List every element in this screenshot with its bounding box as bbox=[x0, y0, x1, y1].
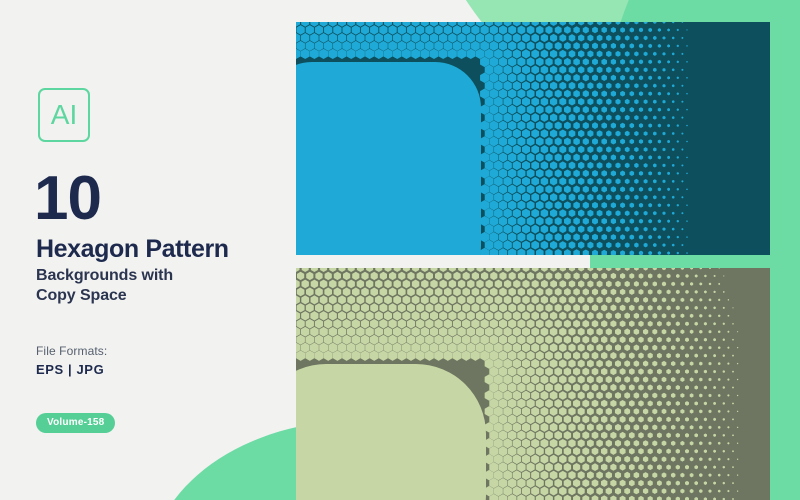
info-panel: AI 10 Hexagon Pattern Backgrounds with C… bbox=[0, 0, 296, 500]
hexagon-pattern-preview-olive bbox=[296, 268, 770, 500]
preview-canvas: AI 10 Hexagon Pattern Backgrounds with C… bbox=[0, 0, 800, 500]
adobe-illustrator-badge-icon: AI bbox=[38, 88, 90, 142]
hexagon-halftone-olive bbox=[296, 268, 770, 500]
file-formats-value: EPS | JPG bbox=[36, 362, 104, 377]
hexagon-halftone-teal bbox=[296, 22, 770, 255]
page-subtitle-line-1: Backgrounds with bbox=[36, 266, 173, 286]
panel-gap bbox=[296, 255, 382, 268]
file-formats-label: File Formats: bbox=[36, 344, 107, 358]
volume-badge: Volume-158 bbox=[36, 413, 115, 433]
item-count: 10 bbox=[34, 168, 101, 230]
hexagon-pattern-preview-teal bbox=[296, 22, 770, 255]
ai-badge-label: AI bbox=[51, 101, 77, 129]
page-subtitle-line-2: Copy Space bbox=[36, 286, 173, 306]
page-title: Hexagon Pattern bbox=[36, 236, 229, 263]
page-subtitle: Backgrounds with Copy Space bbox=[36, 266, 173, 307]
